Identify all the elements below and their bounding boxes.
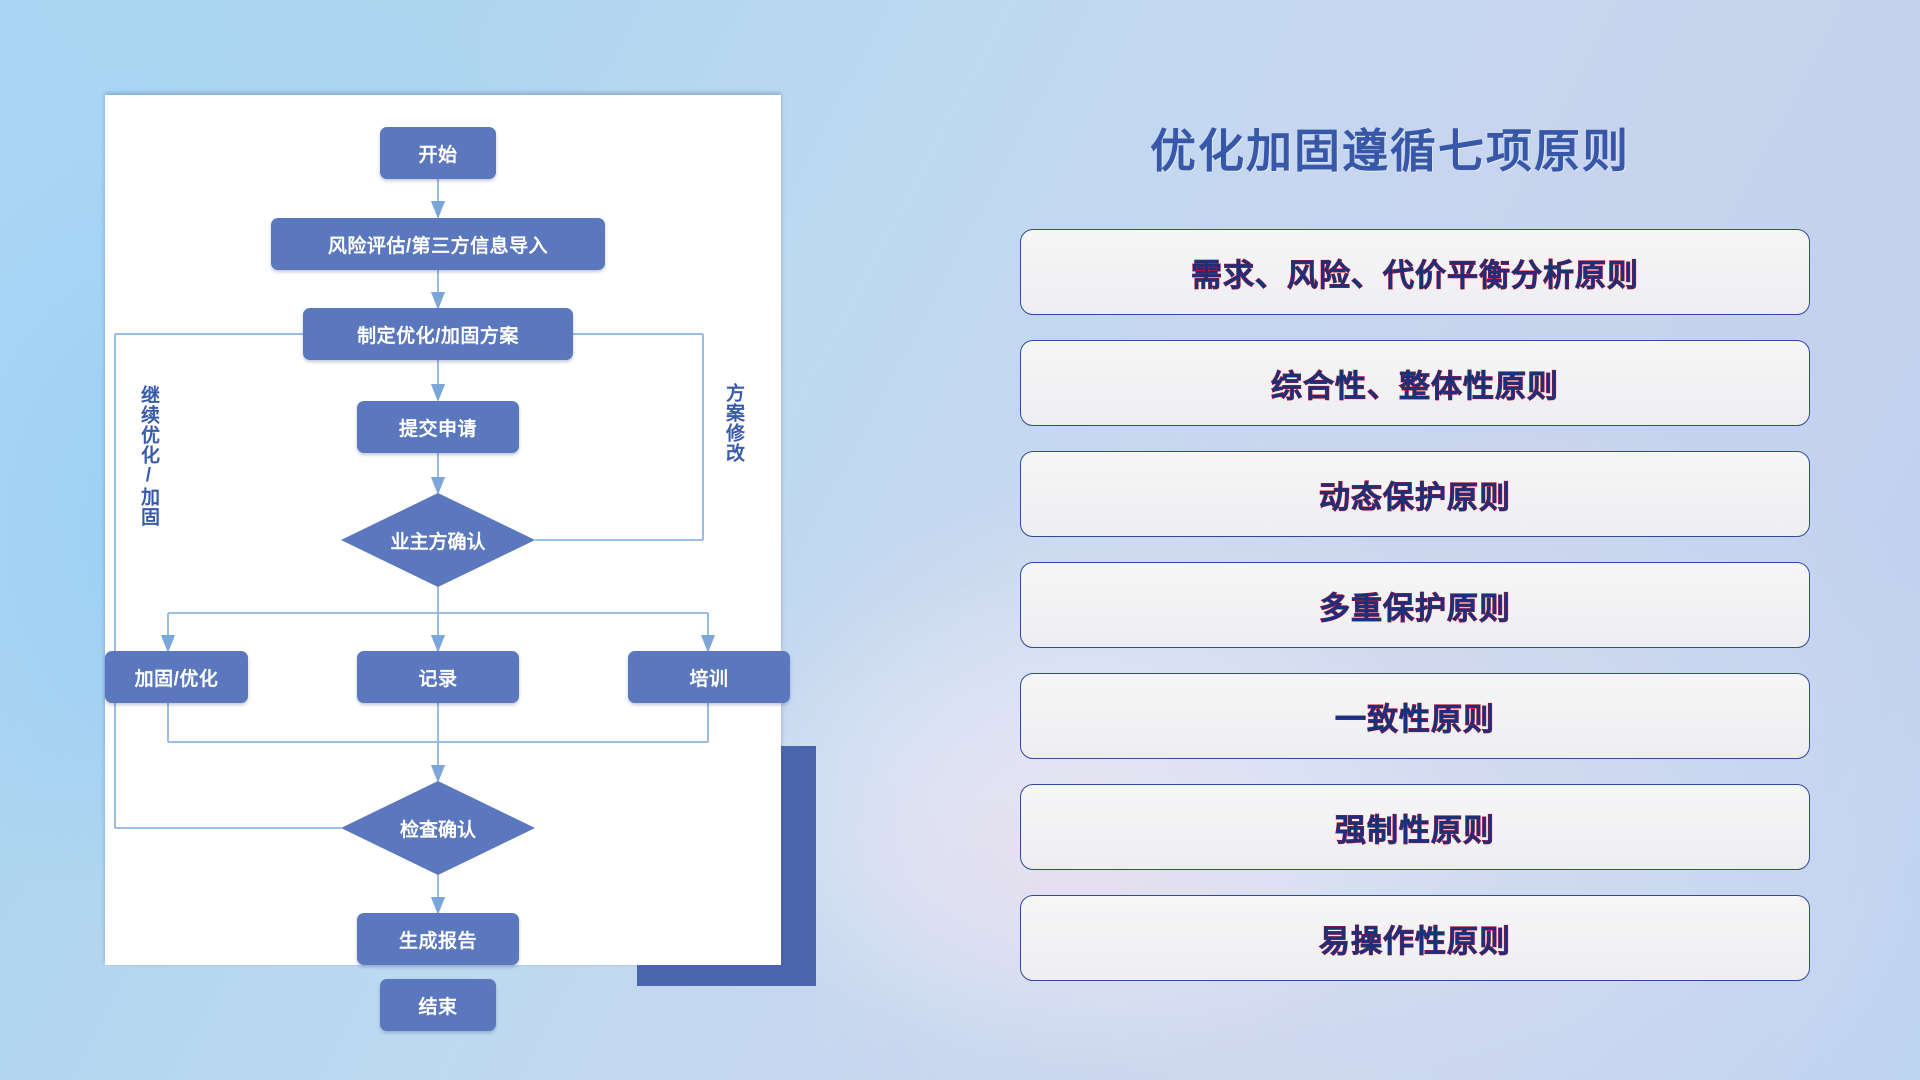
flow-node-label: 业主方确认 xyxy=(390,527,485,554)
flow-node-label: 提交申请 xyxy=(399,414,477,441)
flow-node-reinforce[interactable]: 加固/优化 xyxy=(105,651,248,703)
principle-card[interactable]: 综合性、整体性原则 xyxy=(1020,340,1810,426)
principle-label: 强制性原则 xyxy=(1335,805,1495,850)
flow-edge-label-plan-revision: 方案修改 xyxy=(723,383,743,463)
flow-node-label: 结束 xyxy=(418,992,457,1019)
flow-node-submit-application[interactable]: 提交申请 xyxy=(357,401,519,453)
principle-label: 多重保护原则 xyxy=(1319,583,1511,628)
flow-node-label: 加固/优化 xyxy=(135,664,219,691)
flow-node-label: 检查确认 xyxy=(400,815,476,842)
flowchart-panel: 开始 风险评估/第三方信息导入 制定优化/加固方案 提交申请 业主方确认 加固/… xyxy=(105,95,781,965)
flow-node-label: 制定优化/加固方案 xyxy=(357,321,519,348)
flow-node-label: 开始 xyxy=(418,140,457,167)
principles-title: 优化加固遵循七项原则 xyxy=(1150,115,1630,181)
flow-node-training[interactable]: 培训 xyxy=(628,651,790,703)
flow-node-label: 记录 xyxy=(418,664,457,691)
principles-list: 需求、风险、代价平衡分析原则 综合性、整体性原则 动态保护原则 多重保护原则 一… xyxy=(1020,229,1820,1006)
principles-panel: 优化加固遵循七项原则 需求、风险、代价平衡分析原则 综合性、整体性原则 动态保护… xyxy=(1020,90,1860,1010)
principle-card[interactable]: 强制性原则 xyxy=(1020,784,1810,870)
principle-card[interactable]: 多重保护原则 xyxy=(1020,562,1810,648)
flow-node-record[interactable]: 记录 xyxy=(357,651,519,703)
principle-label: 易操作性原则 xyxy=(1319,916,1511,961)
flow-node-risk-assessment[interactable]: 风险评估/第三方信息导入 xyxy=(271,218,605,270)
flow-edge-label-continue-optimize: 继续优化/加固 xyxy=(138,385,158,527)
flow-node-label: 培训 xyxy=(689,664,728,691)
principle-label: 需求、风险、代价平衡分析原则 xyxy=(1191,250,1639,295)
flow-node-generate-report[interactable]: 生成报告 xyxy=(357,913,519,965)
principle-card[interactable]: 动态保护原则 xyxy=(1020,451,1810,537)
flow-node-plan[interactable]: 制定优化/加固方案 xyxy=(303,308,573,360)
flow-node-end[interactable]: 结束 xyxy=(380,979,496,1031)
flow-node-check-confirm[interactable]: 检查确认 xyxy=(341,781,535,875)
flow-node-start[interactable]: 开始 xyxy=(380,127,496,179)
principle-card[interactable]: 一致性原则 xyxy=(1020,673,1810,759)
flow-node-label: 生成报告 xyxy=(399,926,477,953)
flow-node-owner-confirm[interactable]: 业主方确认 xyxy=(341,493,535,587)
principle-label: 综合性、整体性原则 xyxy=(1271,361,1559,406)
principle-label: 动态保护原则 xyxy=(1319,472,1511,517)
principle-card[interactable]: 需求、风险、代价平衡分析原则 xyxy=(1020,229,1810,315)
principle-card[interactable]: 易操作性原则 xyxy=(1020,895,1810,981)
flow-node-label: 风险评估/第三方信息导入 xyxy=(328,231,548,258)
principle-label: 一致性原则 xyxy=(1335,694,1495,739)
